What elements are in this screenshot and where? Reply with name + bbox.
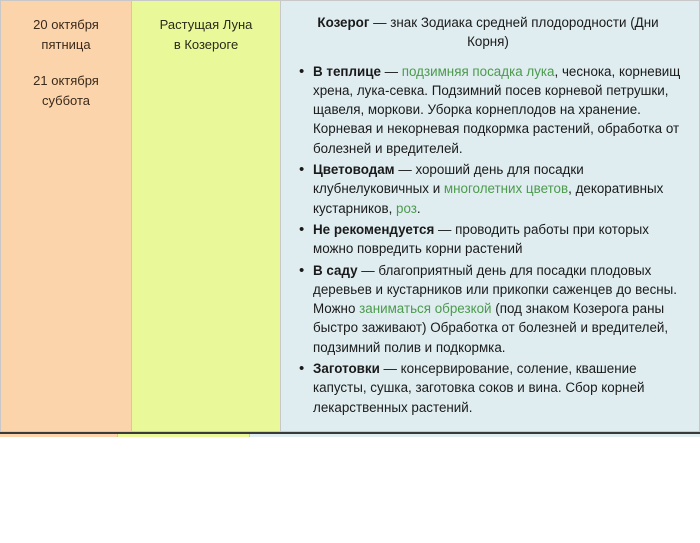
next-row-moon-cell bbox=[118, 434, 250, 437]
advice-link[interactable]: подзимняя посадка лука bbox=[402, 64, 555, 79]
advice-link[interactable]: роз bbox=[396, 201, 417, 216]
advice-item: Не рекомендуется — проводить работы при … bbox=[313, 220, 685, 259]
advice-item: В саду — благоприятный день для посадки … bbox=[313, 261, 685, 357]
date-weekday: суббота bbox=[7, 91, 125, 111]
zodiac-sign-name: Козерог bbox=[317, 15, 369, 30]
advice-item-dash: — bbox=[395, 162, 416, 177]
moon-phase-cell: Растущая Луна в Козероге bbox=[132, 1, 281, 432]
date-weekday: пятница bbox=[7, 35, 125, 55]
zodiac-heading-rest: — знак Зодиака средней плодородности (Дн… bbox=[369, 15, 658, 49]
next-row-dates-cell bbox=[0, 434, 118, 437]
zodiac-heading: Козерог — знак Зодиака средней плодородн… bbox=[295, 13, 681, 52]
advice-item: В теплице — подзимняя посадка лука, чесн… bbox=[313, 62, 685, 158]
advice-item-dash: — bbox=[381, 64, 402, 79]
advice-item-lead: В саду bbox=[313, 263, 358, 278]
date-entry: 21 октябрясуббота bbox=[7, 71, 125, 111]
date-day: 20 октября bbox=[7, 15, 125, 35]
advice-item-dash: — bbox=[434, 222, 455, 237]
next-row-strip bbox=[0, 432, 700, 437]
description-cell: Козерог — знак Зодиака средней плодородн… bbox=[281, 1, 700, 432]
advice-item-dash: — bbox=[358, 263, 379, 278]
advice-list: В теплице — подзимняя посадка лука, чесн… bbox=[291, 62, 685, 417]
calendar-row: 20 октябряпятница21 октябрясуббота Расту… bbox=[1, 1, 700, 432]
advice-item-lead: В теплице bbox=[313, 64, 381, 79]
advice-link[interactable]: многолетних цветов bbox=[444, 181, 568, 196]
advice-item: Цветоводам — хороший день для посадки кл… bbox=[313, 160, 685, 218]
date-day: 21 октября bbox=[7, 71, 125, 91]
moon-phase-line-2: в Козероге bbox=[140, 35, 272, 55]
advice-text: . bbox=[417, 201, 421, 216]
advice-item: Заготовки — консервирование, соление, кв… bbox=[313, 359, 685, 417]
moon-phase-line-1: Растущая Луна bbox=[140, 15, 272, 35]
next-row-content-cell bbox=[250, 434, 700, 437]
advice-link[interactable]: заниматься обрезкой bbox=[359, 301, 491, 316]
date-entry: 20 октябряпятница bbox=[7, 15, 125, 55]
dates-list: 20 октябряпятница21 октябрясуббота bbox=[7, 15, 125, 112]
dates-cell: 20 октябряпятница21 октябрясуббота bbox=[1, 1, 132, 432]
advice-item-lead: Цветоводам bbox=[313, 162, 395, 177]
advice-item-lead: Заготовки bbox=[313, 361, 380, 376]
lunar-calendar-table: 20 октябряпятница21 октябрясуббота Расту… bbox=[0, 0, 700, 432]
advice-item-dash: — bbox=[380, 361, 401, 376]
advice-item-lead: Не рекомендуется bbox=[313, 222, 434, 237]
